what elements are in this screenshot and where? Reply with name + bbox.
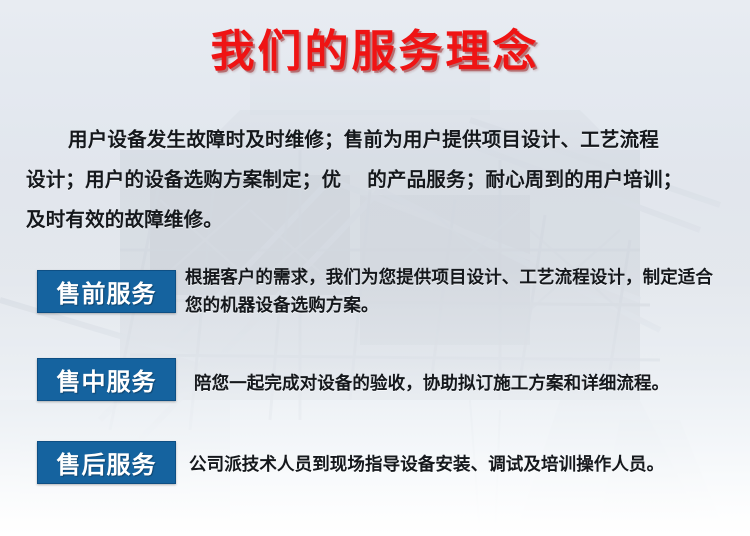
service-philosophy-poster: 我们的服务理念 用户设备发生故障时及时维修；售前为用户提供项目设计、工艺流程 设… (0, 0, 750, 536)
intro-line-2: 设计；用户的设备选购方案制定；优的产品服务；耐心周到的用户培训； (26, 160, 726, 200)
intro-paragraph: 用户设备发生故障时及时维修；售前为用户提供项目设计、工艺流程 设计；用户的设备选… (26, 120, 726, 240)
desc-midsale-line-1: 陪您一起完成对设备的验收，协助拟订施工方案和详细流程。 (194, 370, 742, 398)
intro-line-1: 用户设备发生故障时及时维修；售前为用户提供项目设计、工艺流程 (26, 120, 726, 160)
page-title: 我们的服务理念 (0, 28, 750, 76)
intro-line-2-part-b: 的产品服务；耐心周到的用户培训； (367, 168, 682, 191)
service-row-midsale: 售中服务 陪您一起完成对设备的验收，协助拟订施工方案和详细流程。 (0, 350, 750, 435)
intro-line-2-part-a: 设计；用户的设备选购方案制定；优 (26, 168, 341, 191)
desc-presale-line-2: 您的机器设备选购方案。 (185, 292, 742, 320)
intro-line-3: 及时有效的故障维修。 (26, 200, 726, 240)
desc-aftersale: 公司派技术人员到现场指导设备安装、调试及培训操作人员。 (189, 451, 750, 479)
desc-presale-line-1: 根据客户的需求，我们为您提供项目设计、工艺流程设计，制定适合 (185, 264, 742, 292)
desc-aftersale-line-1: 公司派技术人员到现场指导设备安装、调试及培训操作人员。 (189, 451, 742, 479)
service-row-presale: 售前服务 根据客户的需求，我们为您提供项目设计、工艺流程设计，制定适合 您的机器… (0, 262, 750, 350)
badge-presale: 售前服务 (37, 270, 176, 313)
desc-presale: 根据客户的需求，我们为您提供项目设计、工艺流程设计，制定适合 您的机器设备选购方… (185, 264, 750, 320)
service-row-aftersale: 售后服务 公司派技术人员到现场指导设备安装、调试及培训操作人员。 (0, 435, 750, 515)
badge-aftersale: 售后服务 (37, 441, 176, 484)
desc-midsale: 陪您一起完成对设备的验收，协助拟订施工方案和详细流程。 (194, 370, 750, 398)
service-list: 售前服务 根据客户的需求，我们为您提供项目设计、工艺流程设计，制定适合 您的机器… (0, 262, 750, 515)
badge-midsale: 售中服务 (37, 358, 176, 401)
